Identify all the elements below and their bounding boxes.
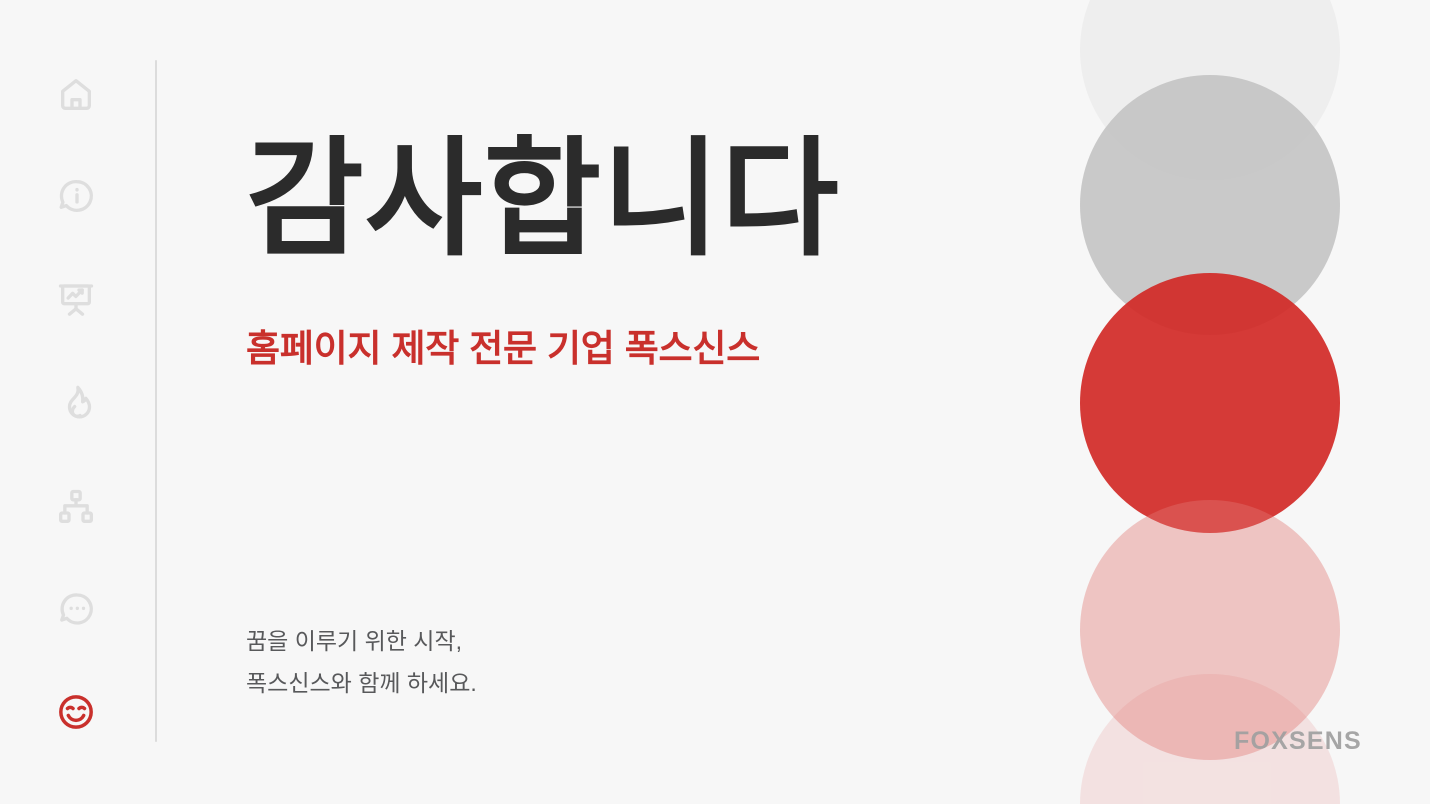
sidebar-item-sitemap[interactable] — [52, 483, 100, 531]
sidebar-item-presentation[interactable] — [52, 275, 100, 323]
rail-divider — [155, 60, 157, 742]
tagline-line-2: 폭스신스와 함께 하세요. — [246, 662, 477, 704]
smiley-face-icon — [56, 692, 96, 732]
circle-red — [1080, 273, 1340, 533]
page-subtitle: 홈페이지 제작 전문 기업 폭스신스 — [246, 318, 760, 372]
tagline-line-1: 꿈을 이루기 위한 시작, — [246, 620, 477, 662]
info-bubble-icon — [56, 176, 96, 216]
decorative-circle-stack — [1080, 0, 1430, 804]
sidebar-item-info[interactable] — [52, 172, 100, 220]
sidebar-item-thanks[interactable] — [52, 688, 100, 736]
sidebar-icon-rail — [0, 0, 156, 804]
page-title: 감사합니다 — [246, 128, 840, 271]
brand-wordmark: FOXSENS — [1234, 727, 1362, 756]
circle-grey — [1080, 75, 1340, 335]
tagline-block: 꿈을 이루기 위한 시작, 폭스신스와 함께 하세요. — [246, 620, 477, 704]
chat-bubble-icon — [56, 589, 96, 629]
home-icon — [56, 74, 96, 114]
sitemap-icon — [56, 487, 96, 527]
sidebar-item-chat[interactable] — [52, 585, 100, 633]
presentation-chart-icon — [56, 279, 96, 319]
flame-icon — [56, 383, 96, 423]
presentation-slide: 감사합니다 홈페이지 제작 전문 기업 폭스신스 꿈을 이루기 위한 시작, 폭… — [0, 0, 1430, 804]
circle-pink — [1080, 500, 1340, 760]
sidebar-item-trending[interactable] — [52, 379, 100, 427]
circle-grey-faint-top — [1080, 0, 1340, 180]
sidebar-item-home[interactable] — [52, 70, 100, 118]
